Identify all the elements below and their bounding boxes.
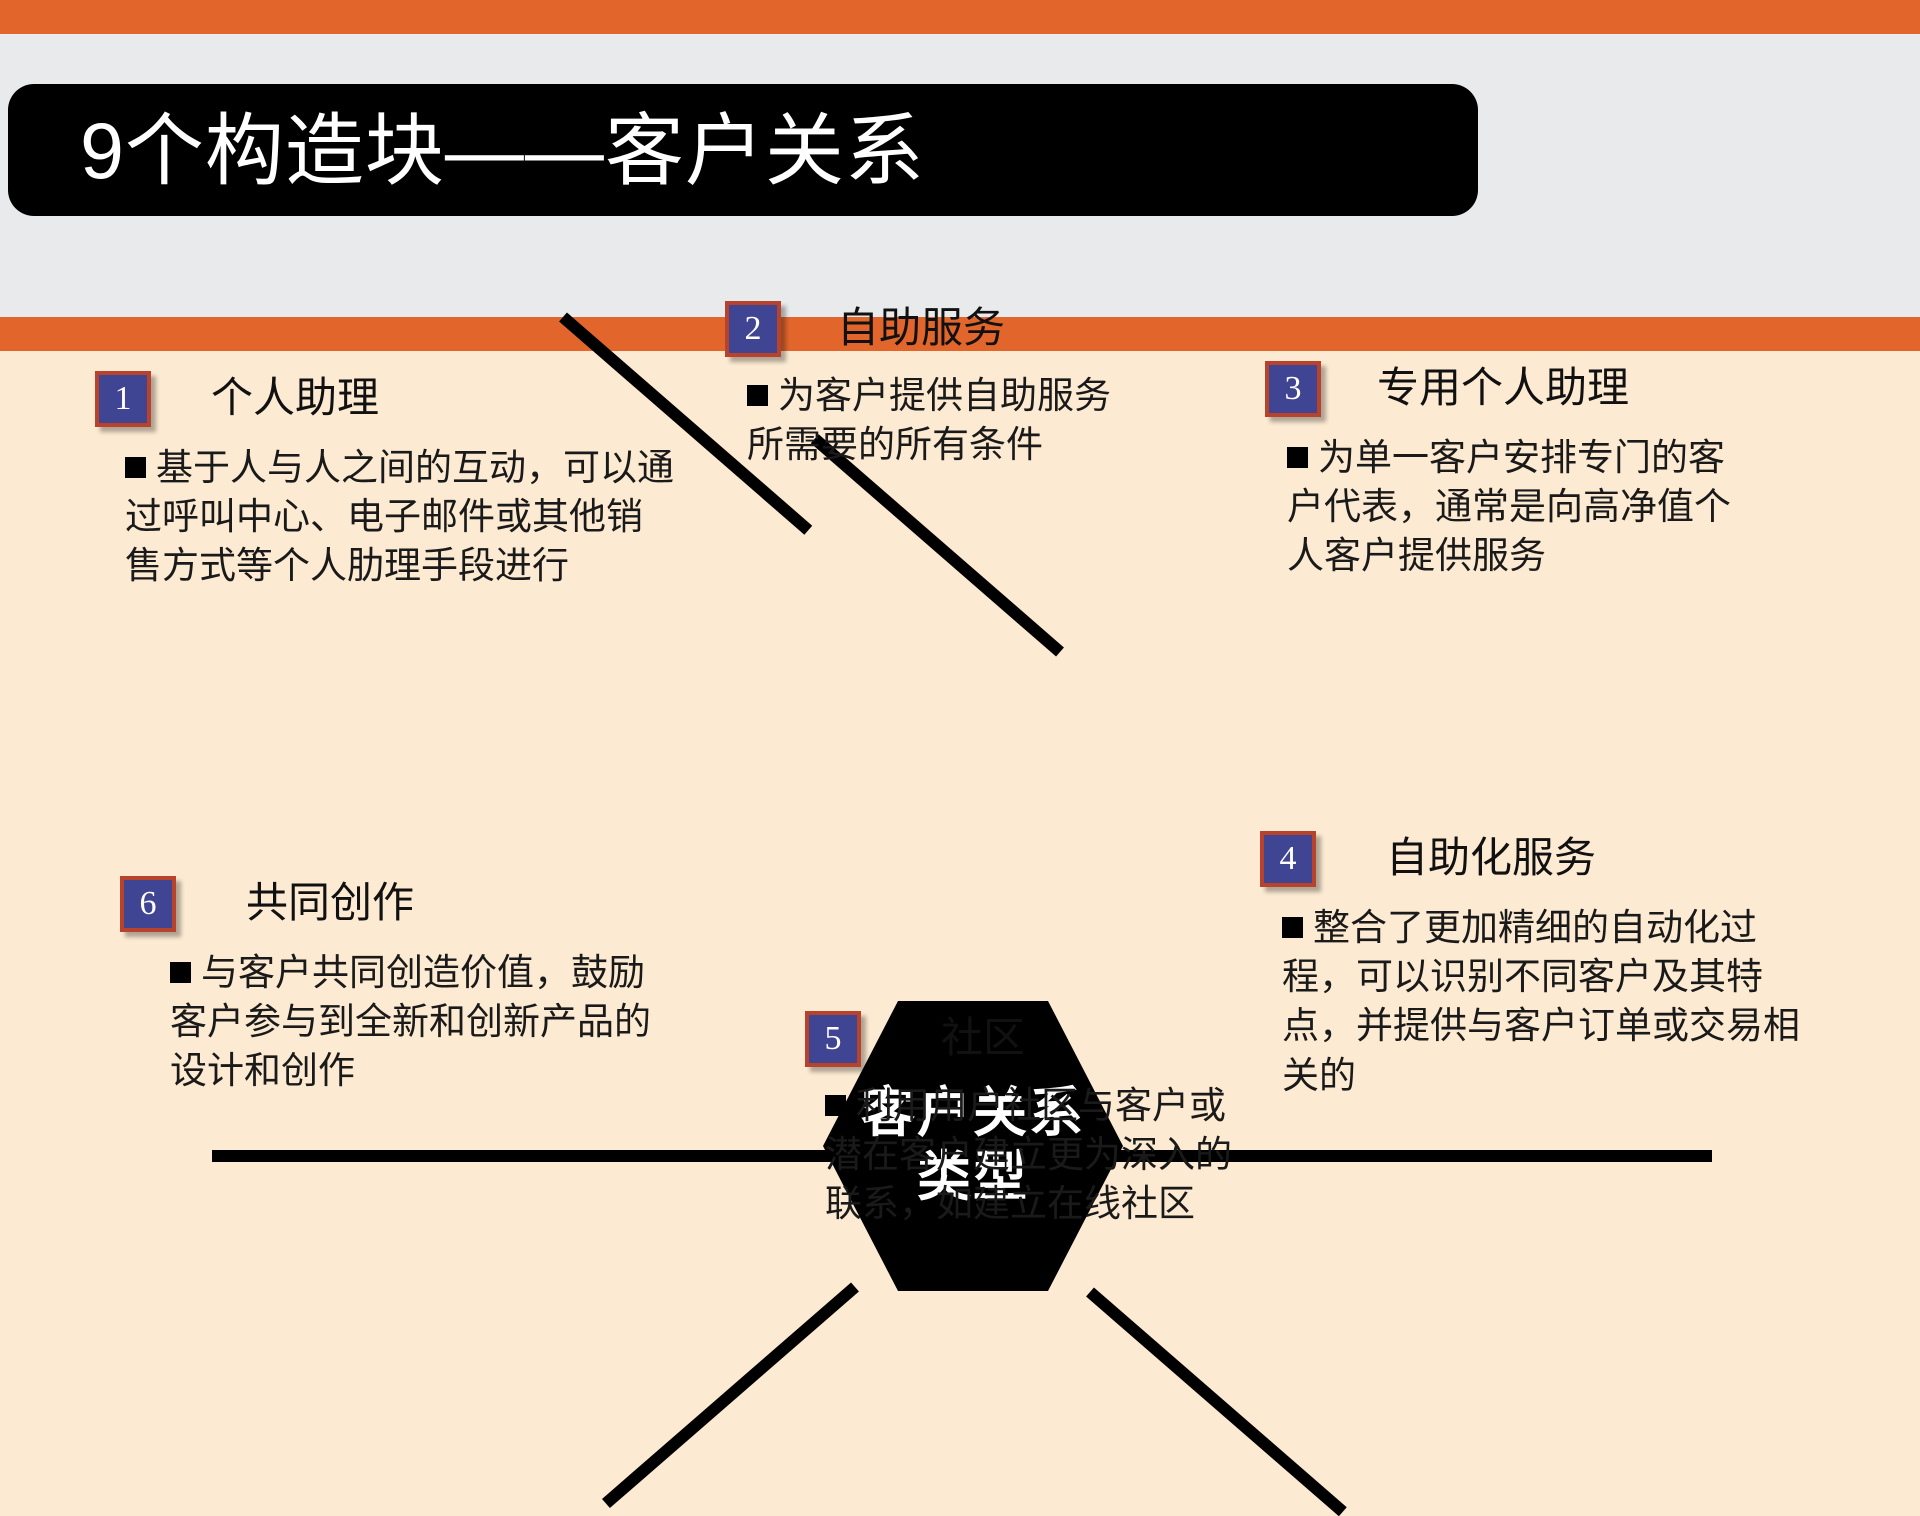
node-3-body-text: 为单一客户安排专门的客户代表，通常是向高净值个人客户提供服务 — [1287, 437, 1731, 576]
node-6-badge[interactable]: 6 — [120, 876, 176, 932]
node-5-badge[interactable]: 5 — [805, 1011, 861, 1067]
node-4-header: 4 自助化服务 — [1260, 831, 1820, 887]
node-4-body: 整合了更加精细的自动化过程，可以识别不同客户及其特点，并提供与客户订单或交易相关… — [1260, 903, 1820, 1100]
node-1-title: 个人助理 — [211, 378, 379, 420]
node-1[interactable]: 1 个人助理 基于人与人之间的互动，可以通过呼叫中心、电子邮件或其他销售方式等个… — [95, 371, 675, 591]
bullet-square-icon — [125, 457, 146, 478]
node-5-title: 社区 — [941, 1018, 1025, 1060]
spoke-lower-right — [1086, 1287, 1347, 1516]
bullet-square-icon — [1282, 917, 1303, 938]
bullet-square-icon — [1287, 447, 1308, 468]
node-2-body: 为客户提供自助服务所需要的所有条件 — [725, 371, 1145, 469]
node-1-body-text: 基于人与人之间的互动，可以通过呼叫中心、电子邮件或其他销售方式等个人肋理手段进行 — [125, 447, 674, 586]
diagram-canvas: 客户关系 类型 1 个人助理 基于人与人之间的互动，可以通过呼叫中心、电子邮件或… — [0, 351, 1920, 1440]
title-banner: 9个构造块——客户关系 — [8, 84, 1478, 216]
node-3-title: 专用个人助理 — [1377, 368, 1629, 410]
node-5[interactable]: 5 社区 利用用户社区与客户或潜在客户建立更为深入的联系，如建立在线社区 — [805, 1011, 1245, 1229]
page-title: 9个构造块——客户关系 — [8, 111, 925, 190]
bullet-square-icon — [747, 385, 768, 406]
node-1-badge[interactable]: 1 — [95, 371, 151, 427]
bullet-square-icon — [825, 1095, 846, 1116]
node-2-body-text: 为客户提供自助服务所需要的所有条件 — [747, 375, 1111, 465]
spoke-lower-left — [602, 1282, 859, 1508]
node-6[interactable]: 6 共同创作 与客户共同创造价值，鼓励客户参与到全新和创新产品的设计和创作 — [120, 876, 680, 1096]
node-5-body-text: 利用用户社区与客户或潜在客户建立更为深入的联系，如建立在线社区 — [825, 1085, 1232, 1224]
slide-root: 9个构造块——客户关系 客户关系 类型 1 个人助理 基于人与人之间的互动，可以… — [0, 0, 1920, 1440]
node-3[interactable]: 3 专用个人助理 为单一客户安排专门的客户代表，通常是向高净值个人客户提供服务 — [1265, 361, 1735, 581]
node-3-body: 为单一客户安排专门的客户代表，通常是向高净值个人客户提供服务 — [1265, 433, 1735, 581]
node-6-title: 共同创作 — [246, 883, 414, 925]
node-6-header: 6 共同创作 — [120, 876, 680, 932]
bullet-square-icon — [170, 962, 191, 983]
node-4[interactable]: 4 自助化服务 整合了更加精细的自动化过程，可以识别不同客户及其特点，并提供与客… — [1260, 831, 1820, 1100]
node-3-badge[interactable]: 3 — [1265, 361, 1321, 417]
node-4-body-text: 整合了更加精细的自动化过程，可以识别不同客户及其特点，并提供与客户订单或交易相关… — [1282, 907, 1800, 1096]
node-4-badge[interactable]: 4 — [1260, 831, 1316, 887]
node-2-badge[interactable]: 2 — [725, 301, 781, 357]
node-3-header: 3 专用个人助理 — [1265, 361, 1735, 417]
node-6-body-text: 与客户共同创造价值，鼓励客户参与到全新和创新产品的设计和创作 — [170, 952, 651, 1091]
top-accent-bar — [0, 0, 1920, 34]
node-2[interactable]: 2 自助服务 为客户提供自助服务所需要的所有条件 — [725, 301, 1145, 469]
node-5-body: 利用用户社区与客户或潜在客户建立更为深入的联系，如建立在线社区 — [805, 1081, 1245, 1229]
node-2-header: 2 自助服务 — [725, 301, 1145, 357]
node-6-body: 与客户共同创造价值，鼓励客户参与到全新和创新产品的设计和创作 — [120, 948, 680, 1096]
node-1-body: 基于人与人之间的互动，可以通过呼叫中心、电子邮件或其他销售方式等个人肋理手段进行 — [95, 443, 675, 591]
node-4-title: 自助化服务 — [1386, 838, 1596, 880]
spoke-left — [212, 1150, 832, 1162]
node-5-header: 5 社区 — [805, 1011, 1245, 1067]
node-2-title: 自助服务 — [837, 308, 1005, 350]
node-1-header: 1 个人助理 — [95, 371, 675, 427]
